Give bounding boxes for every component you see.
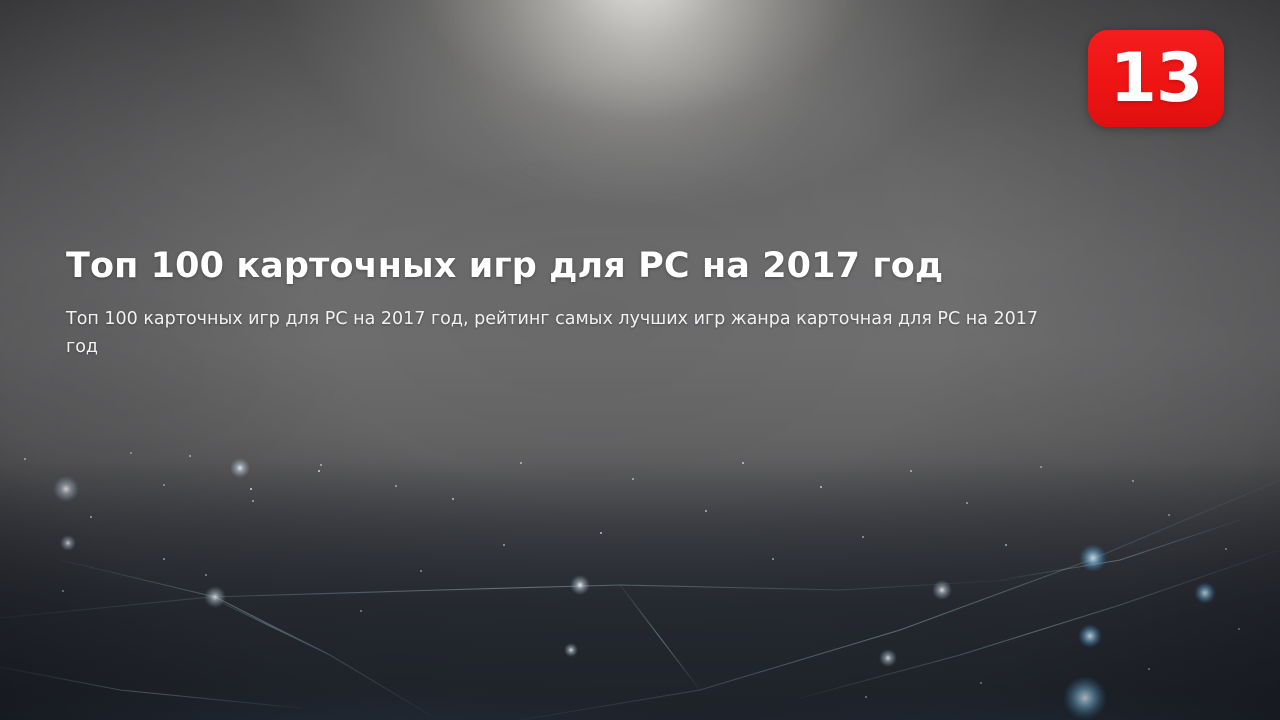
- title-card: 13 Топ 100 карточных игр для PC на 2017 …: [0, 0, 1280, 720]
- rank-number: 13: [1110, 45, 1203, 113]
- title-text-block: Топ 100 карточных игр для PC на 2017 год…: [66, 246, 1076, 361]
- rank-badge: 13: [1088, 30, 1224, 127]
- page-subtitle: Топ 100 карточных игр для PC на 2017 год…: [66, 305, 1066, 362]
- page-title: Топ 100 карточных игр для PC на 2017 год: [66, 246, 1076, 287]
